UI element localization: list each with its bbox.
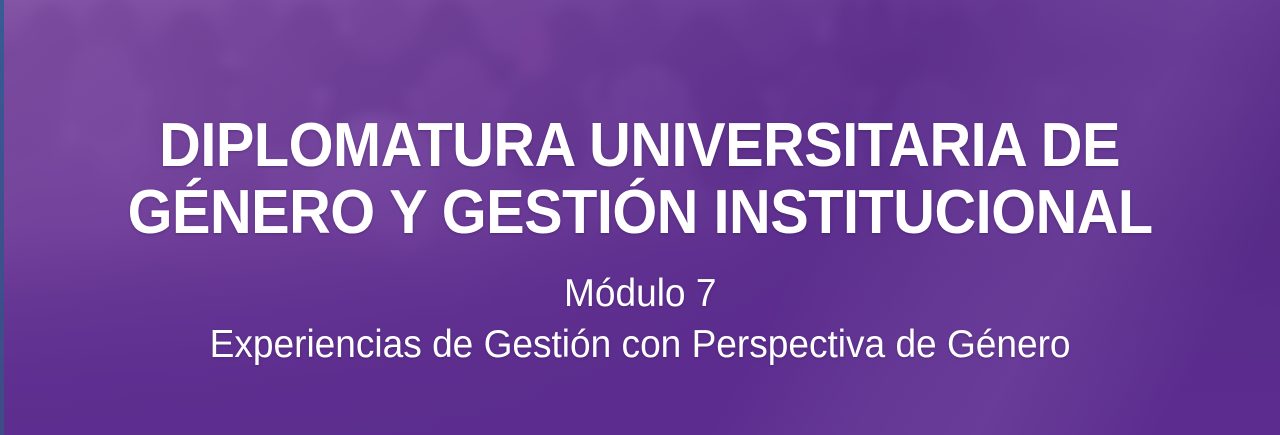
course-banner: DIPLOMATURA UNIVERSITARIA DE GÉNERO Y GE…	[0, 0, 1280, 435]
module-label: Módulo 7	[564, 268, 716, 319]
banner-text: DIPLOMATURA UNIVERSITARIA DE GÉNERO Y GE…	[0, 0, 1280, 435]
course-title-line-2: GÉNERO Y GESTIÓN INSTITUCIONAL	[127, 179, 1152, 246]
course-title-line-1: DIPLOMATURA UNIVERSITARIA DE	[160, 112, 1121, 179]
module-subtitle: Experiencias de Gestión con Perspectiva …	[210, 319, 1071, 370]
